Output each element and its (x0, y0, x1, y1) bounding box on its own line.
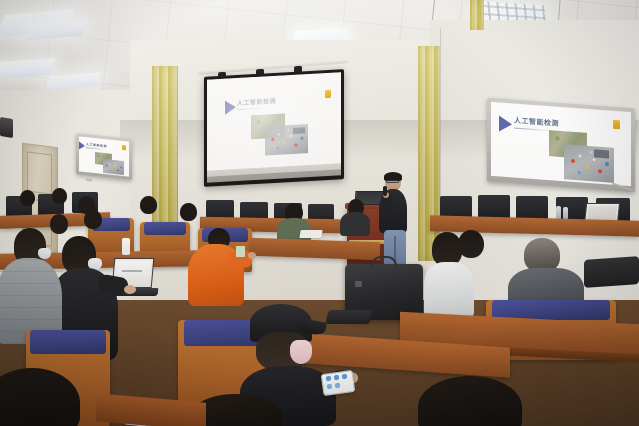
attendee-gray-jacket-head (524, 238, 560, 272)
slide-photo-detection-left (103, 159, 124, 175)
wall-monitor-left-screen: 人工智能检测 (79, 136, 129, 176)
presenter-glasses-icon (386, 180, 399, 183)
desk-small-object (236, 246, 245, 257)
attendee-laptop-user-hand (124, 285, 136, 294)
attendee-behind-puffer-head (458, 230, 484, 258)
attendee-cap-phone-mask (290, 340, 312, 364)
slat-column-far (470, 0, 484, 30)
desk-paper (299, 230, 322, 238)
slide-triangle-icon-left (79, 141, 85, 150)
conference-room-photo: 人工智能检测 人工智能检测 人工智能检测 (0, 0, 639, 426)
back-chair-r3 (516, 196, 548, 220)
laptop-bag-clasp (355, 281, 362, 287)
attendee-white-puffer-head (432, 232, 462, 266)
door-panel-upper (27, 151, 52, 194)
attendee-far-5-head (180, 203, 197, 221)
attendee-white-puffer-body (424, 262, 474, 318)
attendee-far-7-body (340, 212, 370, 236)
attendee-small-1-head (50, 214, 68, 234)
microphone-icon (383, 186, 387, 196)
attendee-far-2-head (52, 188, 67, 204)
slide-title-right: 人工智能检测 (514, 117, 559, 129)
back-chair-r2 (478, 195, 510, 219)
rear-bag (584, 256, 639, 288)
projection-glow (207, 72, 341, 176)
slide-logo-right (613, 120, 620, 130)
slide-triangle-icon-right (499, 115, 512, 132)
laptop-bag-handle (371, 256, 397, 267)
attendee-far-4-head (140, 196, 157, 214)
wall-speaker (0, 117, 13, 138)
attendee-orange-coat-hand (248, 252, 256, 259)
laptop-bag-flat-pouch (326, 310, 373, 324)
wall-monitor-right-screen: 人工智能检测 (491, 102, 631, 186)
attendee-far-1-head (20, 190, 35, 206)
attendee-laptop-screen-text (122, 270, 142, 272)
seat-fabric-m2 (144, 222, 186, 235)
slide-photo-tag-right (594, 149, 609, 158)
seat-fabric-f-left (30, 330, 106, 354)
paper-cup (122, 238, 130, 255)
slide-logo-left (122, 145, 126, 150)
attendee-small-2-head (84, 210, 102, 229)
